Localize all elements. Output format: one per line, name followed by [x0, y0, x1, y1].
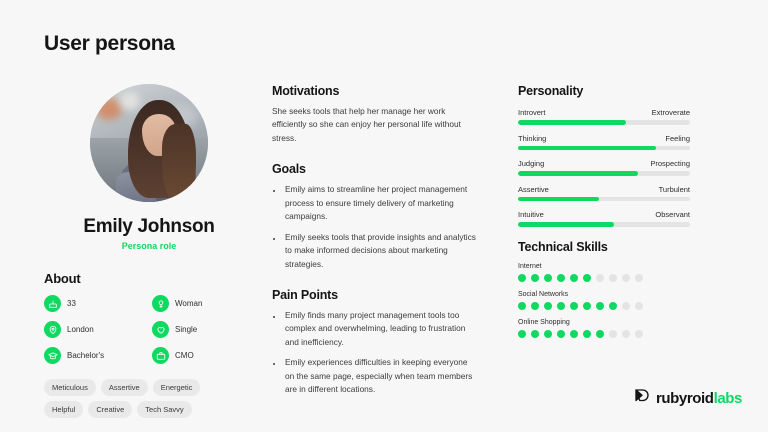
- trait-left-label: Assertive: [518, 185, 549, 194]
- trait-left-label: Introvert: [518, 108, 546, 117]
- skill-dot-rating: [518, 274, 690, 282]
- trait-tag: Tech Savvy: [137, 401, 191, 418]
- avatar-bokeh-b: [120, 92, 140, 110]
- trait-right-label: Observant: [655, 210, 690, 219]
- skill-row: Internet: [518, 263, 690, 282]
- personality-trait-row: Assertive Turbulent: [518, 185, 690, 202]
- goals-list: Emily aims to streamline her project man…: [272, 183, 477, 271]
- pain-points-list: Emily finds many project management tool…: [272, 309, 477, 397]
- about-item-location: London: [44, 321, 146, 338]
- skill-row: Online Shopping: [518, 319, 690, 338]
- list-item: Emily aims to streamline her project man…: [283, 183, 477, 223]
- about-item-label: Single: [175, 325, 197, 334]
- heart-icon: [152, 321, 169, 338]
- skill-label: Internet: [518, 263, 690, 270]
- skill-dot-filled: [557, 274, 565, 282]
- about-item-label: CMO: [175, 351, 194, 360]
- skill-dot-filled: [583, 330, 591, 338]
- persona-role: Persona role: [44, 241, 254, 251]
- skill-dot-filled: [609, 302, 617, 310]
- trait-left-label: Thinking: [518, 134, 546, 143]
- briefcase-icon: [152, 347, 169, 364]
- skill-dot-filled: [570, 330, 578, 338]
- trait-tag: Meticulous: [44, 379, 96, 396]
- trait-slider-fill: [518, 222, 614, 227]
- trait-left-label: Judging: [518, 159, 544, 168]
- trait-tag: Helpful: [44, 401, 83, 418]
- skill-dot-filled: [544, 330, 552, 338]
- skill-dot-empty: [609, 330, 617, 338]
- page-title: User persona: [44, 32, 175, 56]
- about-item-education: Bachelor's: [44, 347, 146, 364]
- persona-name: Emily Johnson: [44, 216, 254, 238]
- trait-right-label: Prospecting: [650, 159, 690, 168]
- skill-label: Online Shopping: [518, 319, 690, 326]
- list-item: Emily experiences difficulties in keepin…: [283, 356, 477, 396]
- trait-left-label: Intuitive: [518, 210, 544, 219]
- brand-wordmark: rubyroidlabs: [656, 390, 742, 407]
- gender-female-icon: [152, 295, 169, 312]
- about-item-label: Woman: [175, 299, 202, 308]
- skill-dot-filled: [531, 302, 539, 310]
- narrative-column: Motivations She seeks tools that help he…: [272, 84, 477, 414]
- cake-icon: [44, 295, 61, 312]
- skill-dot-filled: [518, 274, 526, 282]
- motivations-section: Motivations She seeks tools that help he…: [272, 84, 477, 145]
- motivations-heading: Motivations: [272, 84, 477, 98]
- about-heading: About: [44, 271, 254, 286]
- location-pin-icon: [44, 321, 61, 338]
- avatar-hair-front: [162, 124, 196, 202]
- brand-name-accent: labs: [714, 390, 742, 407]
- about-item-label: 33: [67, 299, 76, 308]
- trait-slider-fill: [518, 197, 599, 202]
- skill-dot-filled: [570, 274, 578, 282]
- skill-dot-filled: [518, 302, 526, 310]
- trait-tag: Assertive: [101, 379, 148, 396]
- skill-dot-filled: [531, 274, 539, 282]
- skill-dot-filled: [518, 330, 526, 338]
- skill-dot-empty: [622, 274, 630, 282]
- skill-dot-filled: [596, 330, 604, 338]
- about-item-age: 33: [44, 295, 146, 312]
- skill-dot-filled: [557, 302, 565, 310]
- motivations-text: She seeks tools that help her manage her…: [272, 105, 477, 145]
- about-item-status: Single: [152, 321, 254, 338]
- about-grid: 33 Woman London: [44, 295, 254, 364]
- avatar-bokeh-a: [96, 98, 122, 120]
- trait-slider-track[interactable]: [518, 222, 690, 227]
- trait-slider-track[interactable]: [518, 120, 690, 125]
- trait-tag: Creative: [88, 401, 132, 418]
- trait-right-label: Feeling: [665, 134, 690, 143]
- personality-trait-row: Thinking Feeling: [518, 134, 690, 151]
- trait-slider-track[interactable]: [518, 146, 690, 151]
- trait-tag-list: Meticulous Assertive Energetic Helpful C…: [44, 379, 236, 418]
- skill-dot-filled: [557, 330, 565, 338]
- about-item-label: Bachelor's: [67, 351, 104, 360]
- skill-dot-empty: [596, 274, 604, 282]
- trait-slider-fill: [518, 171, 638, 176]
- avatar: [90, 84, 208, 202]
- trait-right-label: Turbulent: [659, 185, 690, 194]
- goals-heading: Goals: [272, 162, 477, 176]
- graduation-cap-icon: [44, 347, 61, 364]
- skill-dot-rating: [518, 330, 690, 338]
- trait-slider-track[interactable]: [518, 171, 690, 176]
- skill-row: Social Networks: [518, 291, 690, 310]
- skill-dot-filled: [544, 302, 552, 310]
- skill-label: Social Networks: [518, 291, 690, 298]
- skill-dot-filled: [583, 302, 591, 310]
- skill-dot-empty: [635, 330, 643, 338]
- skill-dot-filled: [544, 274, 552, 282]
- skill-dot-rating: [518, 302, 690, 310]
- skill-dot-empty: [609, 274, 617, 282]
- skill-dot-empty: [635, 302, 643, 310]
- list-item: Emily seeks tools that provide insights …: [283, 231, 477, 271]
- persona-column: Emily Johnson Persona role About 33: [44, 84, 254, 418]
- trait-slider-fill: [518, 120, 626, 125]
- personality-heading: Personality: [518, 84, 690, 98]
- skill-dot-filled: [596, 302, 604, 310]
- trait-slider-track[interactable]: [518, 197, 690, 202]
- brand-logo: rubyroidlabs: [633, 387, 742, 410]
- about-item-label: London: [67, 325, 94, 334]
- slide-canvas: User persona Emily Johnson Persona role …: [0, 0, 768, 432]
- technical-skills-heading: Technical Skills: [518, 240, 690, 254]
- about-item-gender: Woman: [152, 295, 254, 312]
- skill-dot-filled: [570, 302, 578, 310]
- skill-dot-empty: [635, 274, 643, 282]
- skill-dot-filled: [531, 330, 539, 338]
- skill-dot-empty: [622, 330, 630, 338]
- personality-trait-row: Judging Prospecting: [518, 159, 690, 176]
- trait-slider-fill: [518, 146, 656, 151]
- pain-points-heading: Pain Points: [272, 288, 477, 302]
- goals-section: Goals Emily aims to streamline her proje…: [272, 162, 477, 271]
- brand-name-primary: rubyroid: [656, 390, 714, 407]
- rubyroid-mark-icon: [633, 387, 651, 410]
- trait-right-label: Extroverate: [652, 108, 690, 117]
- personality-trait-row: Introvert Extroverate: [518, 108, 690, 125]
- personality-trait-row: Intuitive Observant: [518, 210, 690, 227]
- trait-tag: Energetic: [153, 379, 201, 396]
- about-item-occupation: CMO: [152, 347, 254, 364]
- skill-dot-empty: [622, 302, 630, 310]
- metrics-column: Personality Introvert Extroverate Thinki…: [518, 84, 690, 338]
- list-item: Emily finds many project management tool…: [283, 309, 477, 349]
- skill-dot-filled: [583, 274, 591, 282]
- pain-points-section: Pain Points Emily finds many project man…: [272, 288, 477, 397]
